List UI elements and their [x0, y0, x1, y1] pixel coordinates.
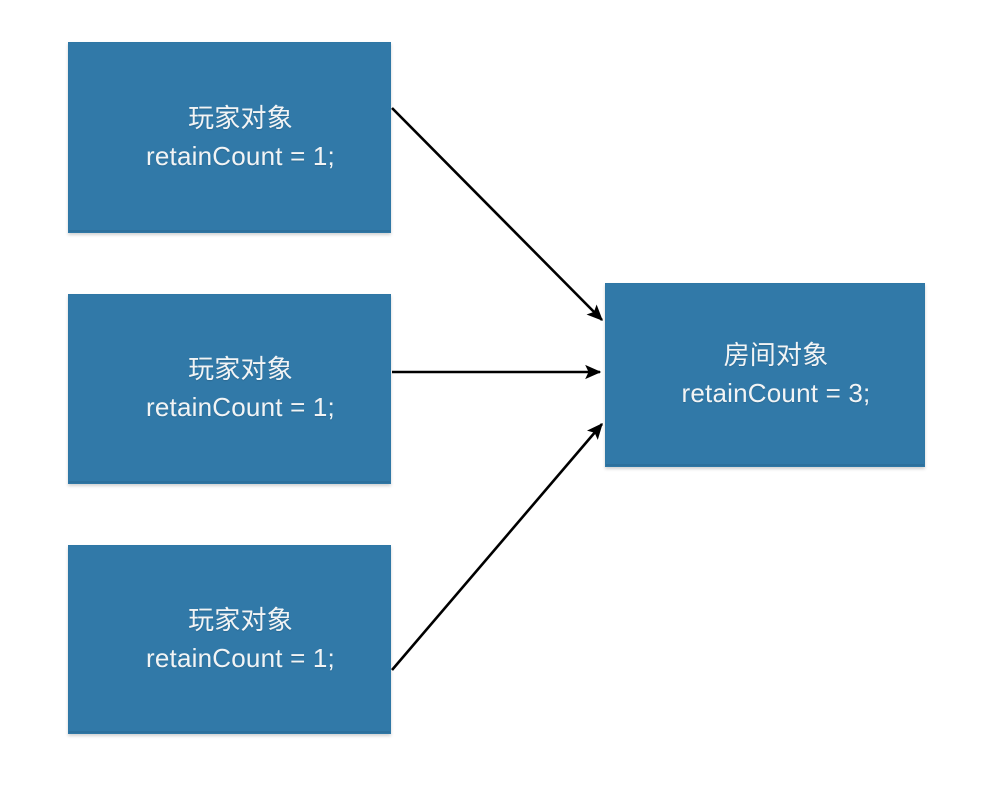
room-object-box[interactable]: 房间对象 retainCount = 3; — [605, 283, 925, 467]
edge-player1-to-room — [392, 108, 602, 320]
edge-player3-to-room — [392, 424, 602, 670]
player-object-retaincount-3: retainCount = 1; — [146, 640, 335, 678]
player-object-retaincount-2: retainCount = 1; — [146, 389, 335, 427]
player-object-title-1: 玩家对象 — [146, 100, 335, 138]
player-object-title-3: 玩家对象 — [146, 602, 335, 640]
room-object-title: 房间对象 — [682, 337, 871, 375]
player-object-label-2: 玩家对象 retainCount = 1; — [120, 351, 339, 426]
player-object-title-2: 玩家对象 — [146, 351, 335, 389]
room-object-label: 房间对象 retainCount = 3; — [656, 337, 875, 412]
player-object-box-1[interactable]: 玩家对象 retainCount = 1; — [68, 42, 391, 233]
diagram-canvas: 玩家对象 retainCount = 1; 玩家对象 retainCount =… — [0, 0, 1000, 795]
player-object-box-2[interactable]: 玩家对象 retainCount = 1; — [68, 294, 391, 484]
player-object-retaincount-1: retainCount = 1; — [146, 138, 335, 176]
player-object-label-1: 玩家对象 retainCount = 1; — [120, 100, 339, 175]
player-object-box-3[interactable]: 玩家对象 retainCount = 1; — [68, 545, 391, 734]
room-object-retaincount: retainCount = 3; — [682, 375, 871, 413]
player-object-label-3: 玩家对象 retainCount = 1; — [120, 602, 339, 677]
